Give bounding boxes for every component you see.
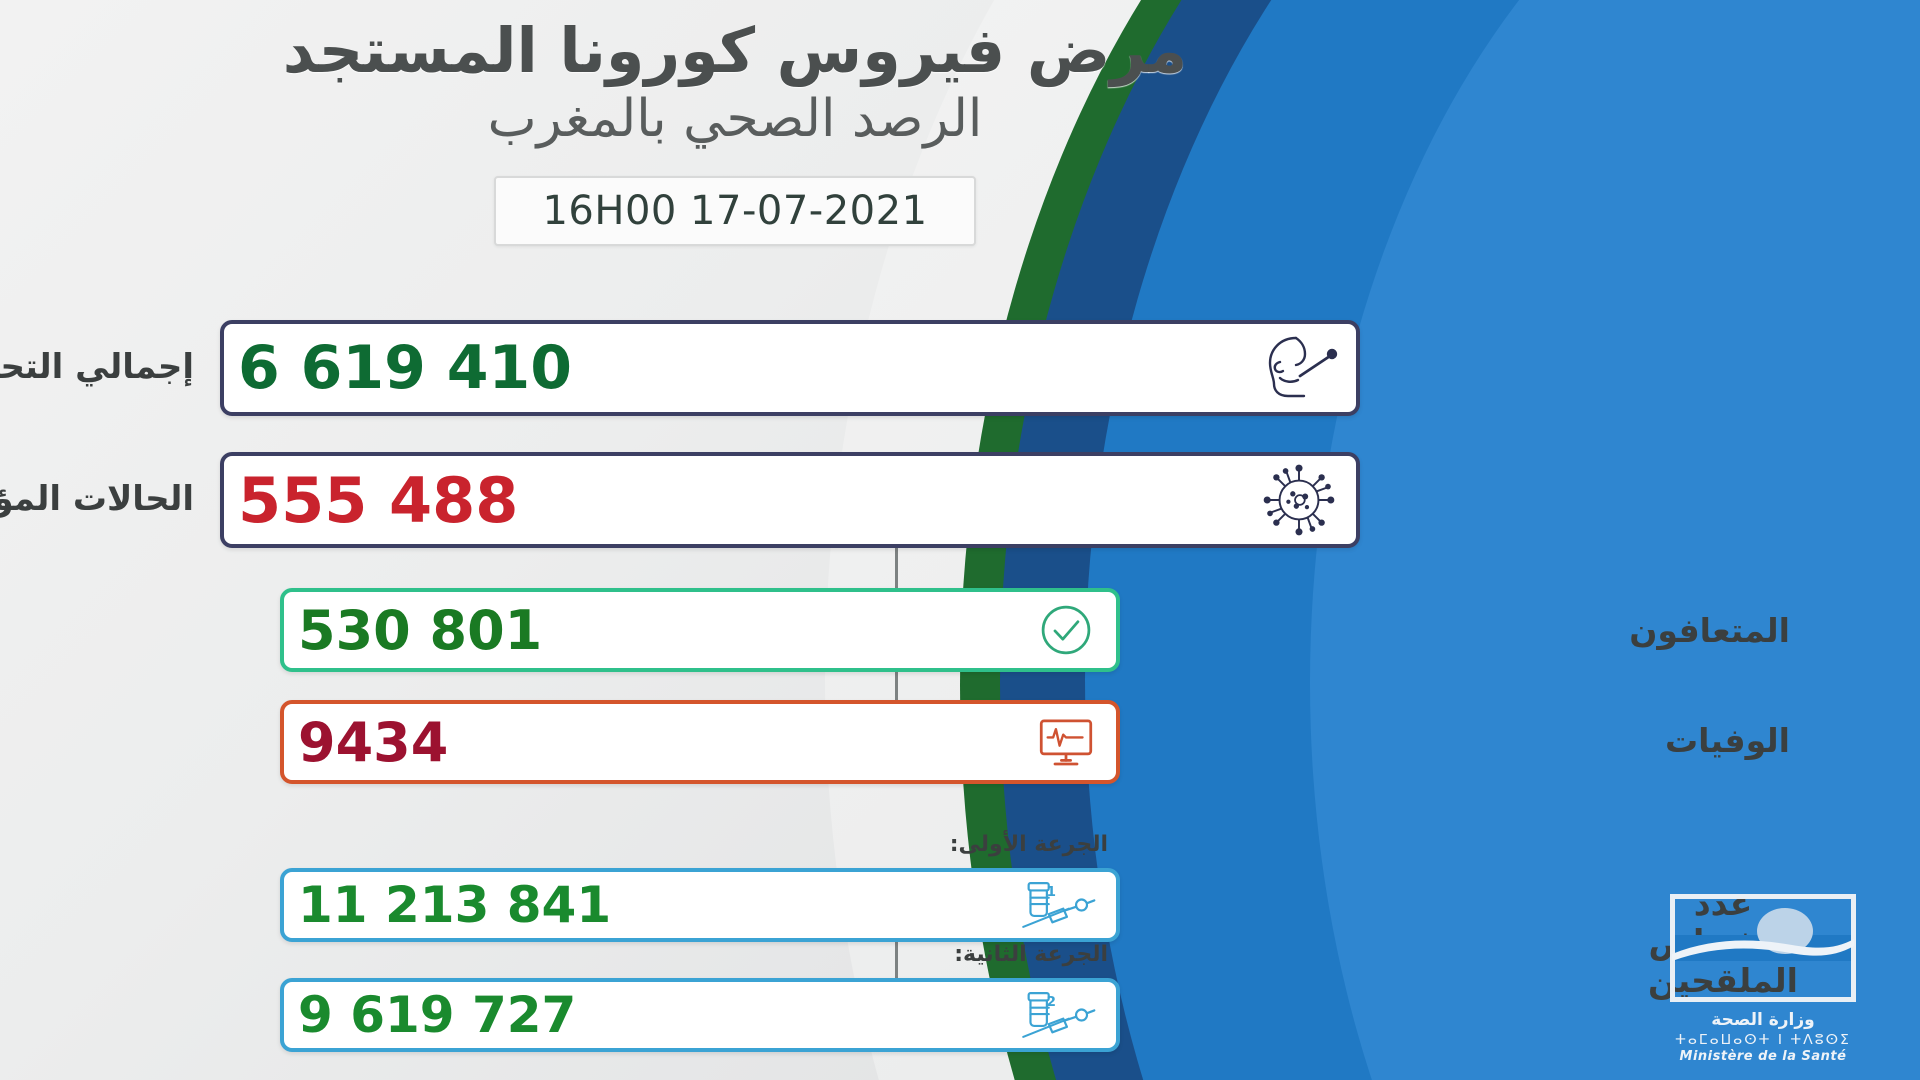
logo-wave-shape [1672,934,1854,962]
stat-row-total-tests: 6 619 410 إجمالي التحاليل [0,320,1360,416]
vaccine-vial-syringe-1-icon: 1 [1010,874,1102,936]
stat-row-confirmed-cases: 555 488 الحالات المؤكدة [0,452,1360,548]
ecg-monitor-icon [1030,709,1102,775]
check-circle-icon [1030,597,1102,663]
confirmed-cases-value: 555 488 [238,464,548,537]
nasal-swab-test-icon [1256,332,1342,404]
svg-text:2: 2 [1046,994,1056,1010]
ministry-of-health-logo: وزارة الصحة ⵜⴰⵎⴰⵡⴰⵙⵜ ⵏ ⵜⴷⵓⵙⵉ Ministère d… [1654,894,1872,1066]
dose2-value: 9 619 727 [298,986,606,1044]
stat-row-recovered: 530 801 [280,588,1120,672]
ministry-logo-mark [1670,894,1856,1002]
logo-tifinagh-text: ⵜⴰⵎⴰⵡⴰⵙⵜ ⵏ ⵜⴷⵓⵙⵉ [1654,1031,1872,1049]
deaths-label: الوفيات [1665,722,1790,760]
vaccine-vial-syringe-2-icon: 2 [1010,984,1102,1046]
stat-box-deaths: 9434 [280,700,1120,784]
recovered-value: 530 801 [298,599,572,662]
coronavirus-icon [1256,462,1342,538]
deaths-value: 9434 [298,711,478,774]
dose1-value: 11 213 841 [298,876,641,934]
stat-row-deaths: 9434 [280,700,1120,784]
poster-header: مرض فيروس كورونا المستجد الرصد الصحي بال… [0,16,1470,246]
page-subtitle: الرصد الصحي بالمغرب [0,87,1470,152]
dose2-caption: الجرعة الثانية: [954,942,1108,967]
page-title: مرض فيروس كورونا المستجد [0,16,1470,85]
logo-french-text: Ministère de la Santé [1654,1049,1872,1066]
stat-box-recovered: 530 801 [280,588,1120,672]
dose1-caption: الجرعة الأولى: [950,832,1108,857]
stat-row-dose1: 1 11 213 841 [280,868,1120,942]
stat-box-dose2: 2 9 619 727 [280,978,1120,1052]
stat-box-dose1: 1 11 213 841 [280,868,1120,942]
stat-box-confirmed-cases: 555 488 [220,452,1360,548]
date-badge: 16H00 17-07-2021 [494,176,975,246]
infographic-poster: مرض فيروس كورونا المستجد الرصد الصحي بال… [0,0,1920,1080]
svg-text:1: 1 [1046,884,1056,900]
confirmed-cases-label: الحالات المؤكدة [0,480,194,519]
date-text: 16H00 17-07-2021 [542,188,927,234]
stat-box-total-tests: 6 619 410 [220,320,1360,416]
total-tests-value: 6 619 410 [238,333,602,403]
stat-row-dose2: 2 9 619 727 [280,978,1120,1052]
total-tests-label: إجمالي التحاليل [0,348,194,387]
logo-arabic-text: وزارة الصحة [1654,1010,1872,1031]
recovered-label: المتعافون [1629,612,1790,650]
